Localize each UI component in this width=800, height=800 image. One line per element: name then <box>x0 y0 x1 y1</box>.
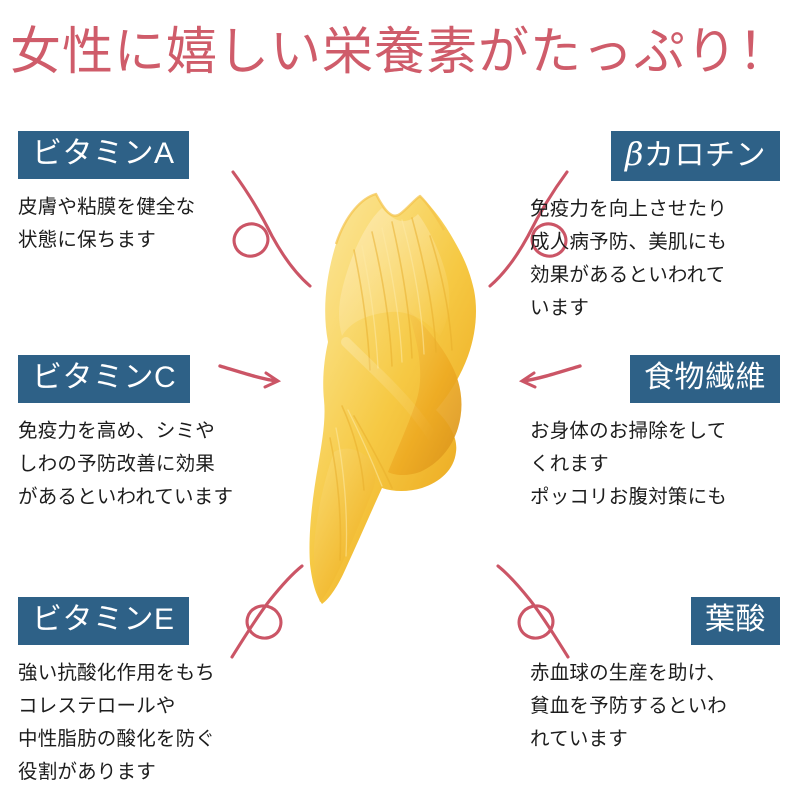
nutrient-description-vitamin-c: 免疫力を高め、シミや しわの予防改善に効果 があるといわれています <box>18 415 268 514</box>
nutrient-description-dietary-fiber: お身体のお掃除をして くれます ポッコリお腹対策にも <box>530 415 780 514</box>
nutrient-badge-vitamin-a: ビタミンA <box>18 131 189 179</box>
description-line: 効果があるといわれて <box>530 259 780 292</box>
description-line: 皮膚や粘膜を健全な <box>18 191 268 224</box>
nutrient-description-vitamin-e: 強い抗酸化作用をもち コレステロールや 中性脂肪の酸化を防ぐ 役割があります <box>18 657 268 789</box>
description-line: れています <box>530 723 780 756</box>
description-line: 赤血球の生産を助け、 <box>530 657 780 690</box>
description-line: 免疫力を向上させたり <box>530 193 780 226</box>
nutrient-badge-dietary-fiber: 食物繊維 <box>630 355 780 403</box>
nutrient-badge-beta-carotene: βカロチン <box>611 131 780 181</box>
description-line: しわの予防改善に効果 <box>18 448 268 481</box>
infographic-canvas: 女性に嬉しい栄養素がたっぷり！ <box>0 0 800 800</box>
nutrient-description-beta-carotene: 免疫力を向上させたり 成人病予防、美肌にも 効果があるといわれて います <box>530 193 780 325</box>
badge-row: βカロチン <box>530 131 780 181</box>
description-line: 免疫力を高め、シミや <box>18 415 268 448</box>
badge-row: 葉酸 <box>530 597 780 645</box>
description-line: 成人病予防、美肌にも <box>530 226 780 259</box>
badge-row: ビタミンE <box>18 597 268 645</box>
nutrient-description-folate: 赤血球の生産を助け、 貧血を予防するといわ れています <box>530 657 780 756</box>
description-line: があるといわれています <box>18 481 268 514</box>
nutrient-block-dietary-fiber: 食物繊維 お身体のお掃除をして くれます ポッコリお腹対策にも <box>530 355 780 514</box>
badge-row: ビタミンA <box>18 131 268 179</box>
nutrient-block-vitamin-c: ビタミンC 免疫力を高め、シミや しわの予防改善に効果 があるといわれています <box>18 355 268 514</box>
nutrient-block-beta-carotene: βカロチン 免疫力を向上させたり 成人病予防、美肌にも 効果があるといわれて い… <box>530 131 780 325</box>
nutrient-badge-vitamin-e: ビタミンE <box>18 597 189 645</box>
description-line: お身体のお掃除をして <box>530 415 780 448</box>
page-title: 女性に嬉しい栄養素がたっぷり！ <box>0 22 800 82</box>
beta-symbol: β <box>625 135 644 173</box>
nutrient-badge-folate: 葉酸 <box>691 597 780 645</box>
nutrient-block-vitamin-a: ビタミンA 皮膚や粘膜を健全な 状態に保ちます <box>18 131 268 257</box>
description-line: 貧血を予防するといわ <box>530 690 780 723</box>
badge-label-suffix: カロチン <box>644 139 766 172</box>
mango-illustration <box>250 170 550 610</box>
description-line: くれます <box>530 448 780 481</box>
badge-row: ビタミンC <box>18 355 268 403</box>
nutrient-block-folate: 葉酸 赤血球の生産を助け、 貧血を予防するといわ れています <box>530 597 780 756</box>
description-line: コレステロールや <box>18 690 268 723</box>
nutrient-description-vitamin-a: 皮膚や粘膜を健全な 状態に保ちます <box>18 191 268 257</box>
description-line: ポッコリお腹対策にも <box>530 481 780 514</box>
description-line: 強い抗酸化作用をもち <box>18 657 268 690</box>
description-line: 役割があります <box>18 756 268 789</box>
description-line: 中性脂肪の酸化を防ぐ <box>18 723 268 756</box>
description-line: います <box>530 292 780 325</box>
nutrient-block-vitamin-e: ビタミンE 強い抗酸化作用をもち コレステロールや 中性脂肪の酸化を防ぐ 役割が… <box>18 597 268 789</box>
badge-row: 食物繊維 <box>530 355 780 403</box>
nutrient-badge-vitamin-c: ビタミンC <box>18 355 190 403</box>
description-line: 状態に保ちます <box>18 224 268 257</box>
